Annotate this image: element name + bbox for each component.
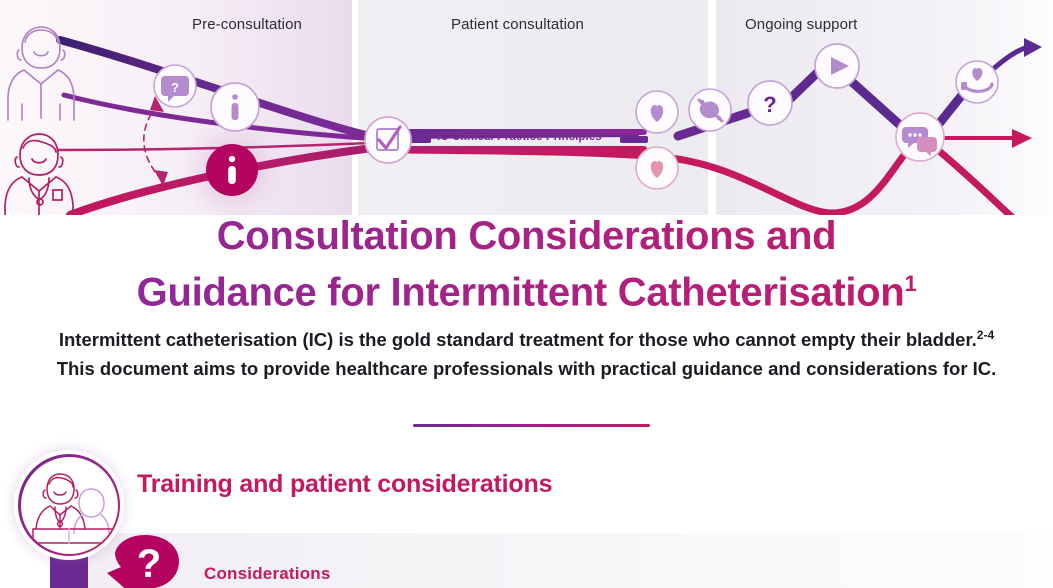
play-video-icon[interactable] bbox=[815, 44, 859, 88]
intro-paragraph: Intermittent catheterisation (IC) is the… bbox=[44, 321, 1009, 383]
intro-reference-marker: 2-4 bbox=[977, 328, 994, 342]
page-title-line-2: Guidance for Intermittent Catheterisatio… bbox=[137, 270, 905, 314]
phase-label-ongoing-support: Ongoing support bbox=[745, 16, 857, 33]
checklist-checkbox-icon[interactable] bbox=[365, 117, 411, 163]
poster-page: ? bbox=[0, 0, 1053, 588]
phase-label-pre-consultation: Pre-consultation bbox=[192, 16, 302, 33]
info-icon-light[interactable] bbox=[211, 83, 259, 131]
ic-principles-tick-right bbox=[620, 136, 648, 143]
svg-text:?: ? bbox=[137, 542, 161, 586]
intro-paragraph-part-1: Intermittent catheterisation (IC) is the… bbox=[59, 329, 977, 350]
question-mark-icon[interactable]: ? bbox=[748, 81, 792, 125]
info-icon-solid[interactable] bbox=[206, 144, 258, 196]
svg-text:?: ? bbox=[763, 92, 776, 117]
question-speech-bubble-icon[interactable]: ? bbox=[154, 65, 196, 107]
heart-icon-purple[interactable] bbox=[636, 91, 678, 133]
question-mark-speech-bubble-icon[interactable]: ? bbox=[105, 533, 183, 588]
section-divider bbox=[413, 424, 650, 427]
no-infection-icon[interactable] bbox=[689, 89, 731, 131]
phase-label-patient-consultation: Patient consultation bbox=[451, 16, 584, 33]
ic-clinical-practice-principles-label: IC Clinical Practice Principles bbox=[437, 131, 602, 143]
hand-heart-care-icon[interactable] bbox=[956, 61, 998, 103]
considerations-label: Considerations bbox=[204, 564, 331, 584]
chat-bubbles-icon[interactable] bbox=[896, 113, 944, 161]
patient-journey-banner: ? bbox=[0, 0, 1053, 215]
page-title-superscript: 1 bbox=[904, 271, 916, 296]
section-heading: Training and patient considerations bbox=[137, 470, 552, 499]
clinician-and-patient-at-desk-icon bbox=[21, 457, 118, 554]
heart-icon-pink[interactable] bbox=[636, 147, 678, 189]
page-title: Consultation Considerations and Guidance… bbox=[0, 212, 1053, 316]
ic-principles-bar-bottom bbox=[405, 146, 647, 152]
phase-label-row: Pre-consultation Patient consultation On… bbox=[0, 0, 1053, 50]
avatar-inner bbox=[21, 457, 118, 554]
intro-paragraph-part-2: This document aims to provide healthcare… bbox=[57, 358, 997, 379]
page-title-line-1: Consultation Considerations and bbox=[217, 214, 837, 258]
svg-text:?: ? bbox=[171, 80, 179, 95]
